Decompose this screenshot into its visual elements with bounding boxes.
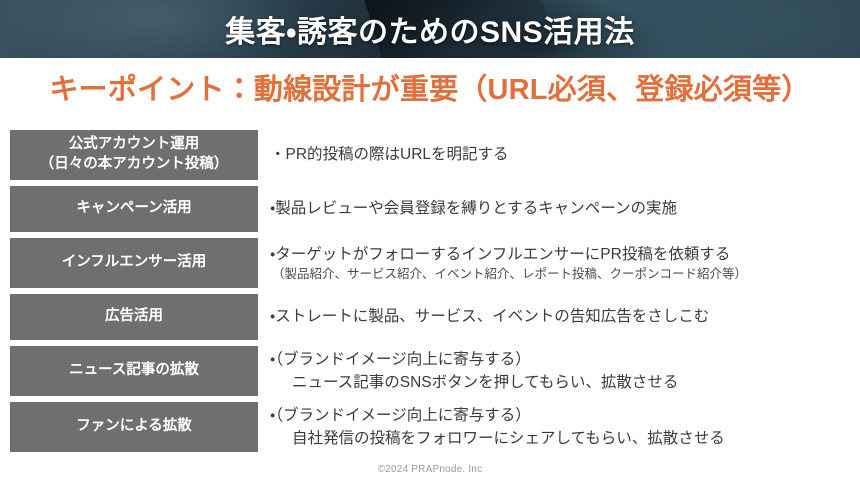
row-label: キャンペーン活用 xyxy=(10,186,258,232)
table-row: 広告活用 ・ストレートに製品、サービス、イベントの告知広告をさしこむ xyxy=(0,294,860,340)
row-desc-line1: ・ストレートに製品、サービス、イベントの告知広告をさしこむ xyxy=(270,305,860,328)
footer-copyright: ©2024 PRAPnode. Inc xyxy=(0,464,860,475)
row-description: ・（ブランドイメージ向上に寄与する） ニュース記事のSNSボタンを押してもらい、… xyxy=(258,346,860,396)
row-desc-line1: ・（ブランドイメージ向上に寄与する） xyxy=(270,404,860,427)
row-label-line1: ニュース記事の拡散 xyxy=(69,361,199,381)
row-label-line1: ファンによる拡散 xyxy=(76,417,192,437)
row-label-line1: 公式アカウント運用 xyxy=(40,135,229,155)
keypoint-subtitle: キーポイント：動線設計が重要（URL必須、登録必須等） xyxy=(0,66,860,108)
row-desc-line2: ニュース記事のSNSボタンを押してもらい、拡散させる xyxy=(270,371,860,394)
row-desc-note: （製品紹介、サービス紹介、イベント紹介、レポート投稿、クーポンコード紹介等） xyxy=(270,266,860,284)
row-label: 広告活用 xyxy=(10,294,258,340)
row-label-line1: キャンペーン活用 xyxy=(76,199,191,219)
table-row: キャンペーン活用 ・製品レビューや会員登録を縛りとするキャンペーンの実施 xyxy=(0,186,860,232)
row-label-line1: 広告活用 xyxy=(105,307,163,327)
content-table: 公式アカウント運用 （日々の本アカウント投稿） ・PR的投稿の際はURLを明記す… xyxy=(0,130,860,458)
slide-root: 集客・誘客のためのSNS活用法 キーポイント：動線設計が重要（URL必須、登録必… xyxy=(0,0,860,483)
row-label: ファンによる拡散 xyxy=(10,402,258,452)
row-label: インフルエンサー活用 xyxy=(10,238,258,288)
row-label: 公式アカウント運用 （日々の本アカウント投稿） xyxy=(10,130,258,180)
row-description: ・PR的投稿の際はURLを明記する xyxy=(258,130,860,180)
row-description: ・ターゲットがフォローするインフルエンサーにPR投稿を依頼する （製品紹介、サー… xyxy=(258,238,860,288)
row-description: ・（ブランドイメージ向上に寄与する） 自社発信の投稿をフォロワーにシェアしてもら… xyxy=(258,402,860,452)
row-label: ニュース記事の拡散 xyxy=(10,346,258,396)
row-label-line2: （日々の本アカウント投稿） xyxy=(40,155,229,175)
table-row: 公式アカウント運用 （日々の本アカウント投稿） ・PR的投稿の際はURLを明記す… xyxy=(0,130,860,180)
row-desc-line2: 自社発信の投稿をフォロワーにシェアしてもらい、拡散させる xyxy=(270,427,860,450)
row-desc-line1: ・製品レビューや会員登録を縛りとするキャンペーンの実施 xyxy=(270,197,860,220)
table-row: ニュース記事の拡散 ・（ブランドイメージ向上に寄与する） ニュース記事のSNSボ… xyxy=(0,346,860,396)
table-row: インフルエンサー活用 ・ターゲットがフォローするインフルエンサーにPR投稿を依頼… xyxy=(0,238,860,288)
row-description: ・ストレートに製品、サービス、イベントの告知広告をさしこむ xyxy=(258,294,860,340)
row-desc-line1: ・ターゲットがフォローするインフルエンサーにPR投稿を依頼する xyxy=(270,243,860,266)
page-title: 集客・誘客のためのSNS活用法 xyxy=(0,0,860,58)
table-row: ファンによる拡散 ・（ブランドイメージ向上に寄与する） 自社発信の投稿をフォロワ… xyxy=(0,402,860,452)
row-label-line1: インフルエンサー活用 xyxy=(62,253,207,273)
row-description: ・製品レビューや会員登録を縛りとするキャンペーンの実施 xyxy=(258,186,860,232)
row-desc-line1: ・PR的投稿の際はURLを明記する xyxy=(270,143,860,166)
row-desc-line1: ・（ブランドイメージ向上に寄与する） xyxy=(270,348,860,371)
